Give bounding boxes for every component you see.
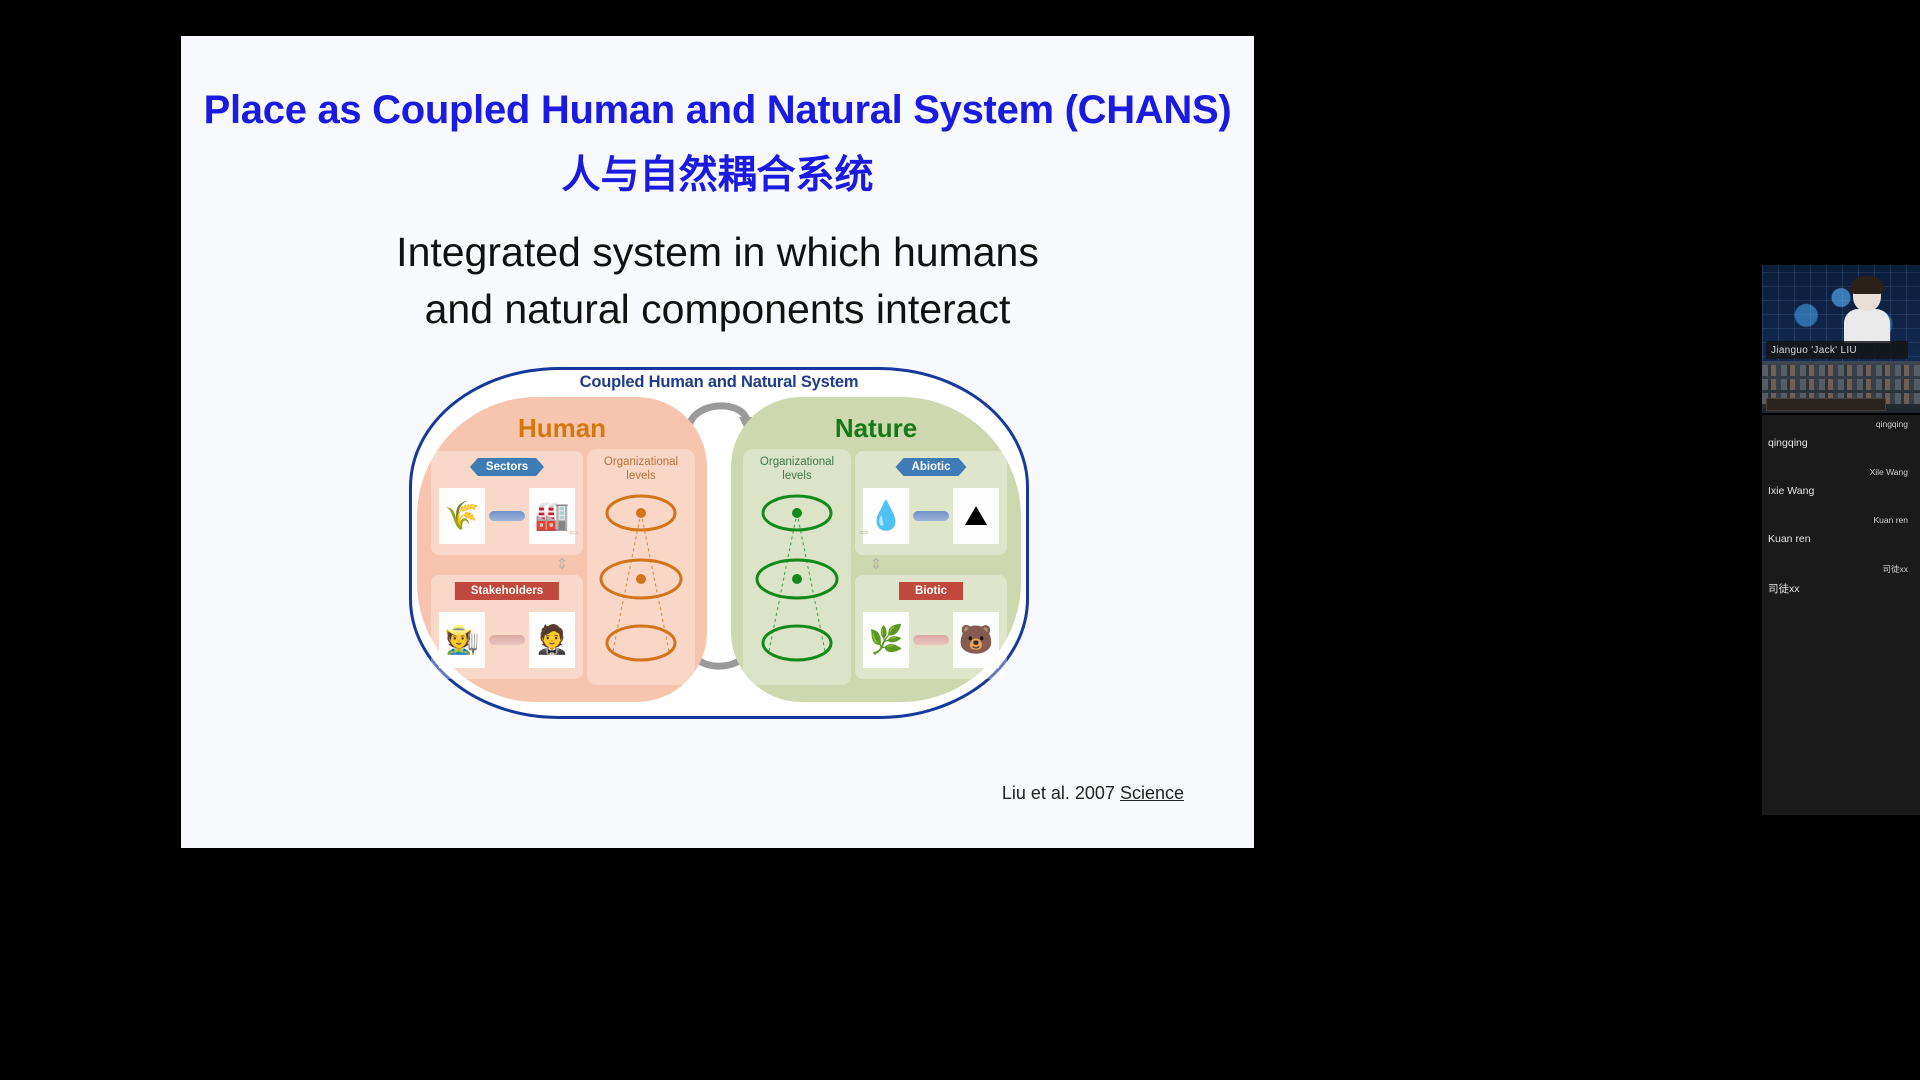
stakeholders-link-bar-icon [489,635,525,645]
citation-journal: Science [1120,783,1184,803]
participant-name-right: Kuan ren [1874,515,1909,525]
human-stakeholders-panel: Stakeholders 🧑‍🌾 🤵 [431,575,583,679]
abiotic-badge: Abiotic [896,458,967,476]
nature-horizontal-link-arrow-icon: ⇔ [853,525,875,538]
biotic-link-bar-icon [913,635,949,645]
human-vertical-link-arrow-icon: ⇕ [556,557,569,575]
screen-share-stage: Place as Coupled Human and Natural Syste… [0,0,1920,1080]
participant-name-left: qingqing [1768,437,1808,449]
stakeholders-badge: Stakeholders [455,582,559,600]
slide-body-line-2: and natural components interact [181,281,1254,338]
nature-panel-title: Nature [731,413,1021,444]
biotic-badge: Biotic [899,582,963,600]
human-sectors-panel: Sectors 🌾 🏭 [431,451,583,555]
participant-name-right: 司徒xx [1882,563,1908,575]
bear-icon: 🐻 [953,612,999,668]
human-org-levels-diagram [587,491,695,681]
speaker-name-label: Jianguo 'Jack' LIU [1766,341,1908,359]
participants-list[interactable]: qingqing qingqing Xile Wang Ixie Wang Ku… [1762,415,1920,815]
slide-title-chinese: 人与自然耦合系统 [181,144,1254,200]
human-horizontal-link-arrow-icon: ⇔ [563,525,585,538]
chans-diagram: Coupled Human and Natural System Human S… [409,367,1029,719]
participant-name-left: 司徒xx [1768,581,1800,596]
stakeholders-icon-row: 🧑‍🌾 🤵 [439,609,575,671]
sectors-link-bar-icon [489,511,525,521]
businessman-icon: 🤵 [529,612,575,668]
nature-org-label-line-2: levels [743,469,851,483]
slide-body-text: Integrated system in which humans and na… [181,224,1254,337]
list-item[interactable]: Xile Wang Ixie Wang [1762,463,1920,511]
participant-name-right: qingqing [1876,419,1908,429]
list-item[interactable]: 司徒xx 司徒xx [1762,559,1920,607]
agriculture-icon: 🌾 [439,488,485,544]
citation-authors-year: Liu et al. 2007 [1002,783,1120,803]
list-item[interactable]: Kuan ren Kuan ren [1762,511,1920,559]
list-item[interactable]: qingqing qingqing [1762,415,1920,463]
nature-organizational-levels: Organizational levels [743,449,851,685]
human-subsystem-panel: Human Sectors 🌾 🏭 ⇕ Stakeholders 🧑‍🌾 [417,397,707,702]
speaker-avatar [1844,279,1890,341]
audience-room-view [1762,361,1920,413]
human-panel-title: Human [417,413,707,444]
abiotic-icon-row: 💧 ⛰ [863,485,999,547]
human-org-label-line-2: levels [587,469,695,483]
biotic-icon-row: 🌿 🐻 [863,609,999,671]
human-org-label-line-1: Organizational [587,455,695,469]
slide-citation: Liu et al. 2007 Science [1002,783,1184,804]
abiotic-link-bar-icon [913,511,949,521]
right-sidebar: Jianguo 'Jack' LIU qingqing qingqing Xil… [1762,265,1920,815]
lectern-desk [1766,398,1886,411]
nature-abiotic-panel: Abiotic 💧 ⛰ [855,451,1007,555]
participant-name-left: Kuan ren [1768,533,1811,545]
speaker-hair [1850,276,1884,294]
chans-diagram-header: Coupled Human and Natural System [409,373,1029,392]
human-organizational-levels: Organizational levels [587,449,695,685]
sectors-badge: Sectors [470,458,544,476]
slide-body-line-1: Integrated system in which humans [181,224,1254,281]
participant-name-left: Ixie Wang [1768,485,1814,497]
farmer-icon: 🧑‍🌾 [439,612,485,668]
nature-org-levels-diagram [743,491,851,681]
nature-subsystem-panel: Nature Abiotic 💧 ⛰ ⇕ Biotic 🌿 🐻 [731,397,1021,702]
participant-name-right: Xile Wang [1870,467,1908,477]
human-org-levels-label: Organizational levels [587,455,695,484]
nature-vertical-link-arrow-icon: ⇕ [870,557,883,575]
presentation-slide: Place as Coupled Human and Natural Syste… [181,36,1254,848]
plant-icon: 🌿 [863,612,909,668]
nature-org-label-line-1: Organizational [743,455,851,469]
slide-title-english: Place as Coupled Human and Natural Syste… [181,88,1254,133]
nature-biotic-panel: Biotic 🌿 🐻 [855,575,1007,679]
speaker-body [1844,309,1890,343]
nature-org-levels-label: Organizational levels [743,455,851,484]
sectors-icon-row: 🌾 🏭 [439,485,575,547]
rock-icon: ⛰ [953,488,999,544]
speaker-video-tile[interactable]: Jianguo 'Jack' LIU [1762,265,1920,413]
